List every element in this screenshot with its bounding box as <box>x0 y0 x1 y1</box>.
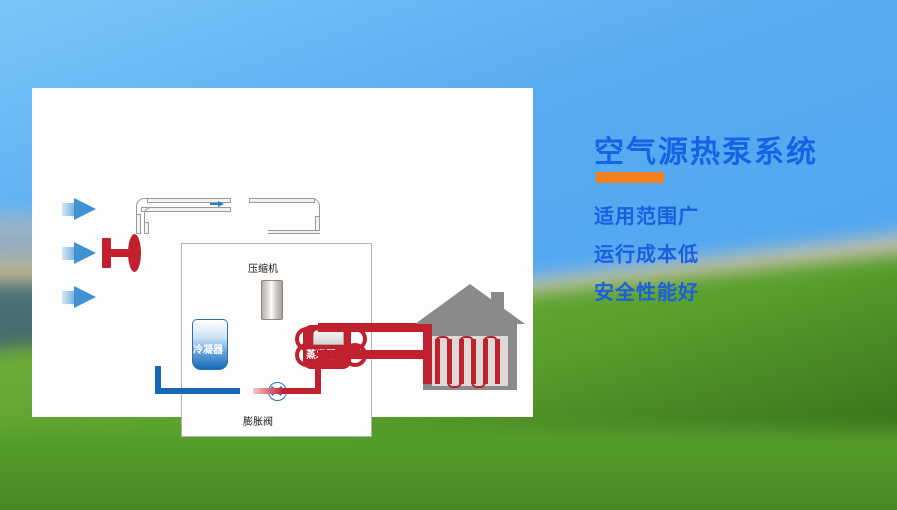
compressor-unit <box>261 280 283 320</box>
diagram-panel: 压缩机 冷凝器 膨胀阀 蒸发器 <box>32 88 533 417</box>
hot-line-bottom <box>253 388 321 394</box>
bullet-list: 适用范围广 运行成本低 安全性能好 <box>594 207 699 321</box>
house-roof <box>415 284 525 324</box>
gas-pipe-evaporator-top <box>268 230 320 234</box>
list-item: 运行成本低 <box>594 245 699 265</box>
compressor-label: 压缩机 <box>248 260 278 275</box>
gas-pipe-left-vertical-inner <box>144 222 149 234</box>
page-title: 空气源热泵系统 <box>594 127 818 171</box>
list-item: 安全性能好 <box>594 283 699 303</box>
expansion-valve-label: 膨胀阀 <box>243 413 273 428</box>
gas-pipe-left-vertical <box>136 214 141 234</box>
liquid-line-horizontal <box>155 388 240 394</box>
flow-arrow-suction-tail <box>210 203 219 205</box>
house-chimney <box>491 292 504 324</box>
blurred-grass-bottom <box>0 430 897 510</box>
house-illustration <box>415 284 525 394</box>
accent-bar <box>596 172 664 183</box>
condenser-label: 冷凝器 <box>193 341 223 356</box>
list-item: 适用范围广 <box>594 207 699 227</box>
slide-canvas: 空气源热泵系统 适用范围广 运行成本低 安全性能好 <box>0 0 897 510</box>
